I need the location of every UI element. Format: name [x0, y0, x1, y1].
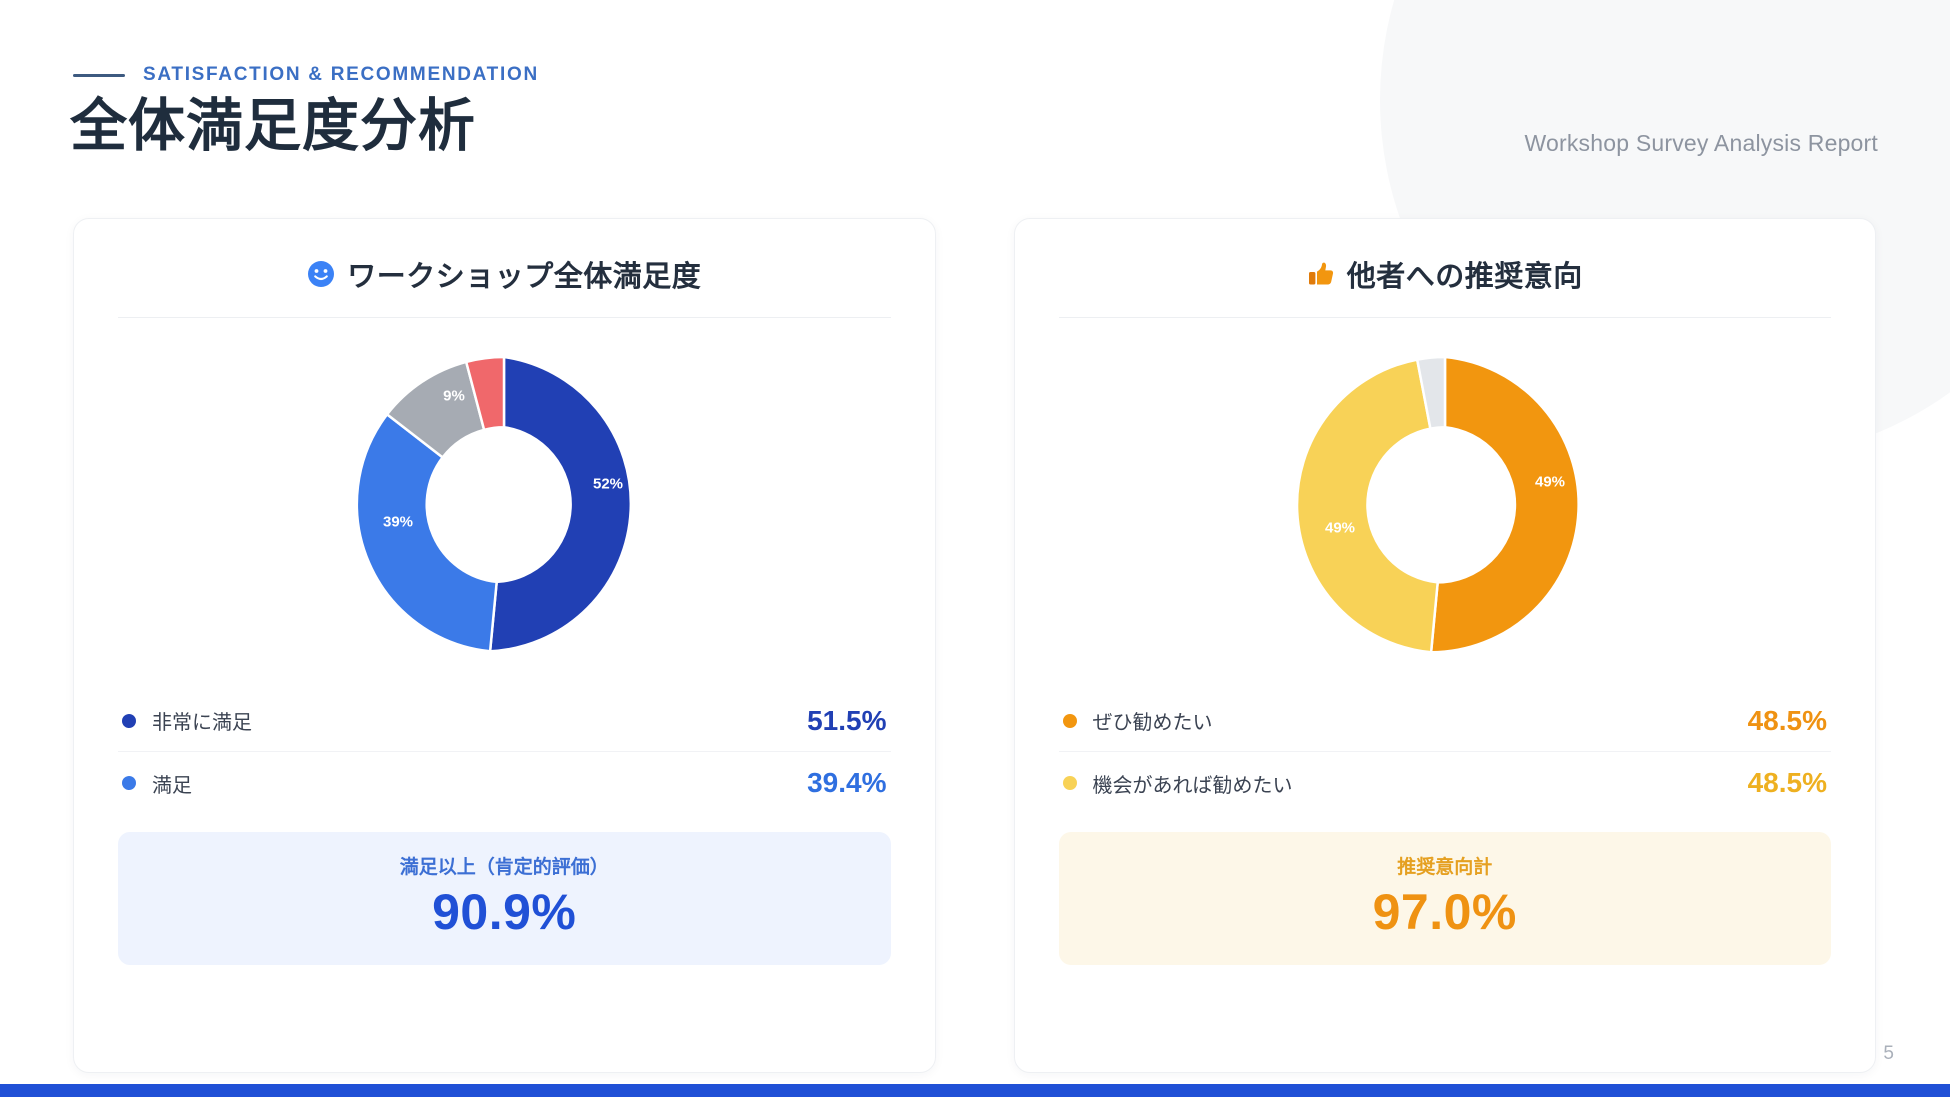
title-divider	[1059, 317, 1832, 318]
card-satisfaction: ワークショップ全体満足度	[73, 218, 936, 1073]
cards-container: ワークショップ全体満足度	[73, 218, 1876, 1073]
donut-label-0: 52%	[593, 476, 623, 493]
donut-chart-recommendation: 49% 49%	[1059, 326, 1832, 666]
legend-color-dot-icon	[122, 776, 136, 790]
donut-svg: 52% 39% 9%	[349, 350, 659, 660]
donut-slice-1	[357, 414, 497, 651]
legend-satisfaction: 非常に満足 51.5% 満足 39.4%	[118, 690, 891, 814]
donut-slice-1	[1297, 360, 1438, 653]
eyebrow-dash-icon	[73, 74, 125, 77]
slide-header: SATISFACTION & RECOMMENDATION 全体満足度分析 Wo…	[0, 0, 1950, 200]
bottom-accent-bar	[0, 1084, 1950, 1097]
donut-svg: 49% 49%	[1290, 350, 1600, 660]
legend-value: 51.5%	[807, 705, 886, 737]
donut-label-2: 9%	[443, 388, 465, 405]
page-number: 5	[1883, 1043, 1894, 1065]
donut-label-1: 49%	[1325, 520, 1355, 537]
summary-box-recommendation: 推奨意向計 97.0%	[1059, 832, 1832, 965]
legend-value: 48.5%	[1748, 767, 1827, 799]
title-divider	[118, 317, 891, 318]
legend-recommendation: ぜひ勧めたい 48.5% 機会があれば勧めたい 48.5%	[1059, 690, 1832, 814]
card-title-text: 他者への推奨意向	[1347, 253, 1583, 295]
legend-item[interactable]: 満足 39.4%	[118, 752, 891, 814]
smiley-face-icon	[307, 260, 335, 288]
legend-color-dot-icon	[122, 714, 136, 728]
thumbs-up-icon	[1307, 260, 1335, 288]
donut-chart-satisfaction: 52% 39% 9%	[118, 326, 891, 666]
card-recommendation: 他者への推奨意向 49% 49%	[1014, 218, 1877, 1073]
donut-label-1: 39%	[383, 514, 413, 531]
legend-label: 機会があれば勧めたい	[1093, 769, 1748, 798]
eyebrow: SATISFACTION & RECOMMENDATION	[73, 64, 539, 86]
page-title: 全体満足度分析	[70, 92, 476, 160]
legend-label: 非常に満足	[152, 706, 807, 735]
summary-box-satisfaction: 満足以上（肯定的評価） 90.9%	[118, 832, 891, 965]
report-label: Workshop Survey Analysis Report	[1525, 130, 1878, 157]
donut-slice-0	[1431, 357, 1579, 652]
eyebrow-label: SATISFACTION & RECOMMENDATION	[143, 64, 539, 86]
summary-label: 満足以上（肯定的評価）	[118, 852, 891, 879]
slide-root: SATISFACTION & RECOMMENDATION 全体満足度分析 Wo…	[0, 0, 1950, 1097]
legend-value: 39.4%	[807, 767, 886, 799]
legend-item[interactable]: 非常に満足 51.5%	[118, 690, 891, 752]
legend-color-dot-icon	[1063, 714, 1077, 728]
donut-label-0: 49%	[1535, 474, 1565, 491]
summary-value: 90.9%	[118, 883, 891, 941]
legend-label: 満足	[152, 769, 807, 798]
legend-item[interactable]: 機会があれば勧めたい 48.5%	[1059, 752, 1832, 814]
legend-item[interactable]: ぜひ勧めたい 48.5%	[1059, 690, 1832, 752]
legend-label: ぜひ勧めたい	[1093, 706, 1748, 735]
summary-value: 97.0%	[1059, 883, 1832, 941]
card-title-text: ワークショップ全体満足度	[347, 253, 701, 295]
donut-slice-0	[490, 357, 631, 651]
legend-color-dot-icon	[1063, 776, 1077, 790]
summary-label: 推奨意向計	[1059, 852, 1832, 879]
card-title-satisfaction: ワークショップ全体満足度	[118, 253, 891, 317]
card-title-recommendation: 他者への推奨意向	[1059, 253, 1832, 317]
legend-value: 48.5%	[1748, 705, 1827, 737]
